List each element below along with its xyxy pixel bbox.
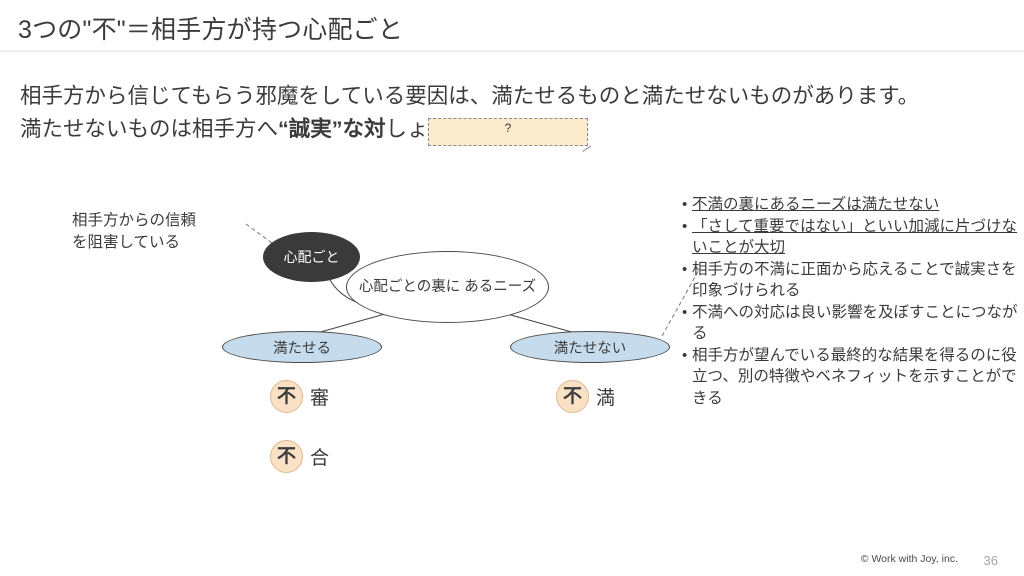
fu-item-fushin[interactable]: 不 審 (270, 380, 329, 413)
annotation-left: 相手方からの信頼 を阻害している (72, 210, 196, 254)
slide-canvas: 3つの"不"＝相手方が持つ心配ごと 相手方から信じてもらう邪魔をしている要因は、… (0, 0, 1024, 576)
node-worry[interactable]: 心配ごと (263, 232, 360, 282)
node-cannot-satisfy[interactable]: 満たせない (510, 331, 670, 363)
fu-circle-icon: 不 (270, 380, 303, 413)
title-bar: 3つの"不"＝相手方が持つ心配ごと (0, 0, 1024, 50)
list-item: 相手方の不満に正面から応えることで誠実さを印象づけられる (682, 259, 1018, 302)
body-line-2-bold: “誠実”な対 (278, 117, 386, 141)
bullet-list: 不満の裏にあるニーズは満たせない 「さして重要ではない」といい加減に片づけないこ… (682, 194, 1018, 409)
body-line-2-pre: 満たせないものは相手方へ (20, 117, 278, 141)
list-item: 相手方が望んでいる最終的な結果を得るのに役立つ、別の特徴やベネフィットを示すこと… (682, 345, 1018, 410)
footer-page-number: 36 (984, 553, 998, 568)
question-mark-label: ? (429, 121, 587, 135)
fu-item-fugo[interactable]: 不 合 (270, 440, 329, 473)
node-cannot-satisfy-label: 満たせない (554, 337, 627, 358)
fu-suffix-label: 満 (596, 383, 615, 410)
list-item: 不満の裏にあるニーズは満たせない (682, 194, 1018, 216)
footer-copyright: © Work with Joy, inc. (861, 553, 958, 565)
fu-suffix-label: 審 (310, 383, 329, 410)
fu-circle-label: 不 (563, 387, 582, 406)
list-item: 「さして重要ではない」といい加減に片づけないことが大切 (682, 216, 1018, 259)
title-divider (0, 50, 1024, 53)
page-title: 3つの"不"＝相手方が持つ心配ごと (18, 10, 403, 46)
fu-circle-label: 不 (277, 447, 296, 466)
fu-circle-icon: 不 (556, 380, 589, 413)
fu-suffix-label: 合 (310, 443, 329, 470)
list-item: 不満への対応は良い影響を及ぼすことにつながる (682, 302, 1018, 345)
fu-circle-icon: 不 (270, 440, 303, 473)
question-overlay-note[interactable]: ? (428, 118, 588, 146)
fu-item-fuman[interactable]: 不 満 (556, 380, 615, 413)
body-line-1: 相手方から信じてもらう邪魔をしている要因は、満たせるものと満たせないものがありま… (20, 84, 919, 108)
node-needs-label: 心配ごとの裏に あるニーズ (359, 277, 536, 297)
fu-circle-label: 不 (277, 387, 296, 406)
node-needs[interactable]: 心配ごとの裏に あるニーズ (346, 251, 549, 323)
node-can-satisfy[interactable]: 満たせる (222, 331, 382, 363)
node-worry-label: 心配ごと (284, 247, 340, 267)
node-can-satisfy-label: 満たせる (273, 337, 331, 358)
